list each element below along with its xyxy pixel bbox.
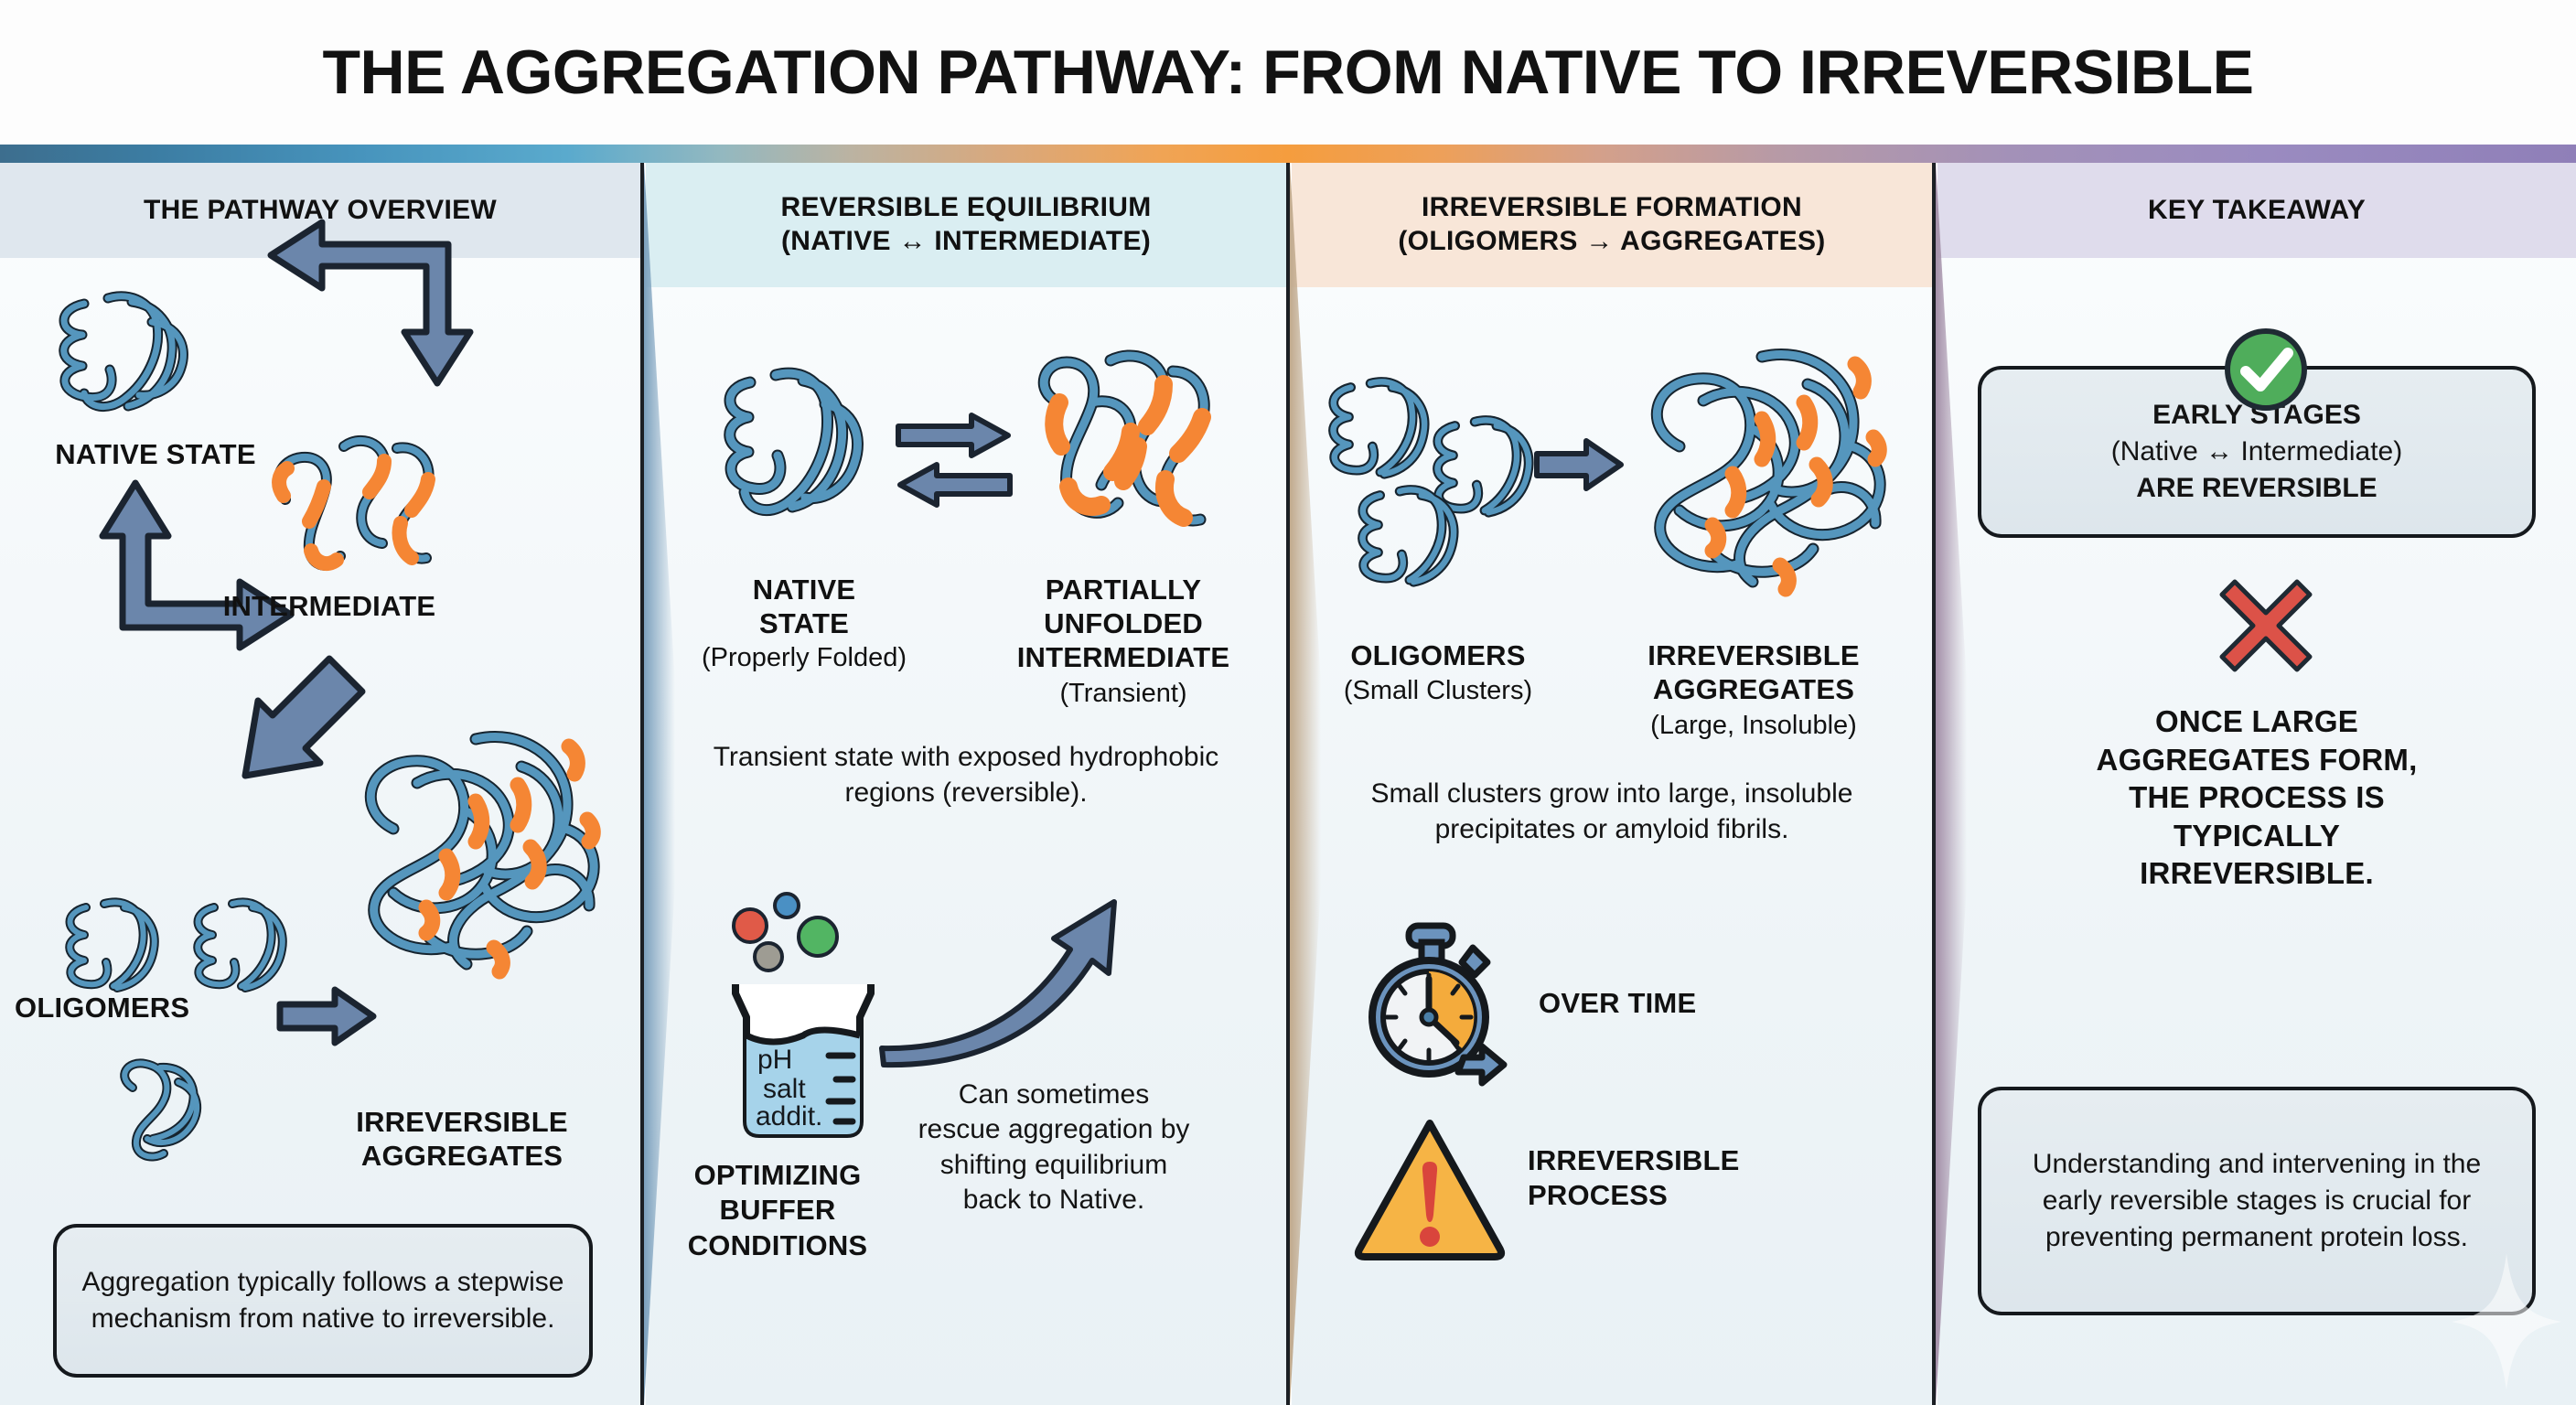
- column-divider-2: [1286, 163, 1292, 1405]
- irreversible-line-5: IRREVERSIBLE.: [1959, 854, 2554, 893]
- warning-triangle-icon: [1352, 1114, 1508, 1260]
- native-state-sublabel: (Properly Folded): [653, 642, 955, 674]
- oligomers-sublabel: (Small Clusters): [1292, 675, 1584, 707]
- aggregates-line-1: IRREVERSIBLE: [1584, 638, 1923, 672]
- irreversible-takeaway-text: ONCE LARGE AGGREGATES FORM, THE PROCESS …: [1959, 702, 2554, 893]
- column-divider-1: [640, 163, 646, 1405]
- header-line-2: (OLIGOMERS → AGGREGATES): [1398, 226, 1825, 256]
- irreversible-process-line-2: PROCESS: [1528, 1178, 1912, 1213]
- native-state-line-2: STATE: [653, 606, 955, 640]
- aggregates-line-2: AGGREGATES: [302, 1139, 622, 1173]
- buffer-beaker-icon: pH salt addit.: [715, 885, 898, 1142]
- aggregates-sublabel: (Large, Insoluble): [1584, 710, 1923, 742]
- aggregates-line-1: IRREVERSIBLE: [302, 1105, 622, 1139]
- equilibrium-arrows-icon: [895, 412, 1014, 509]
- over-time-label: OVER TIME: [1539, 986, 1813, 1020]
- irreversible-aggregates-label: IRREVERSIBLE AGGREGATES: [302, 1105, 622, 1173]
- oligomers-label: OLIGOMERS: [1292, 638, 1584, 672]
- infographic-poster: THE AGGREGATION PATHWAY: FROM NATIVE TO …: [0, 0, 2576, 1405]
- column-header-label: KEY TAKEAWAY: [2148, 194, 2366, 228]
- callout-text: Aggregation typically follows a stepwise…: [80, 1264, 565, 1337]
- column-header-irreversible-formation: IRREVERSIBLE FORMATION (OLIGOMERS → AGGR…: [1292, 163, 1932, 287]
- oligomers-label: OLIGOMERS: [0, 991, 274, 1024]
- rescue-description: Can sometimes rescue aggregation by shif…: [917, 1078, 1191, 1218]
- header-line-1: REVERSIBLE EQUILIBRIUM: [781, 192, 1152, 222]
- column-pathway-overview: THE PATHWAY OVERVIEW NATIVE STATE: [0, 163, 640, 1405]
- unfolded-line-3: INTERMEDIATE: [964, 640, 1283, 674]
- partially-unfolded-sublabel: (Transient): [964, 678, 1283, 710]
- pathway-overview-callout: Aggregation typically follows a stepwise…: [53, 1224, 593, 1378]
- column-header-label: REVERSIBLE EQUILIBRIUM (NATIVE ↔ INTERME…: [781, 191, 1152, 258]
- intermediate-label: INTERMEDIATE: [137, 589, 521, 623]
- irreversible-line-3: THE PROCESS IS: [1959, 778, 2554, 817]
- native-protein-icon: [44, 282, 209, 428]
- aggregates-line-2: AGGREGATES: [1584, 672, 1923, 706]
- beaker-salt-label: salt: [763, 1074, 806, 1104]
- column-key-takeaway: KEY TAKEAWAY EARLY STAGES (Native ↔ Inte…: [1937, 163, 2576, 1405]
- unfolded-line-2: UNFOLDED: [964, 606, 1283, 640]
- page-title: THE AGGREGATION PATHWAY: FROM NATIVE TO …: [322, 37, 2253, 108]
- irreversible-process-label: IRREVERSIBLE PROCESS: [1528, 1143, 1912, 1214]
- check-circle-icon: [2222, 326, 2310, 413]
- native-folded-protein-icon: [708, 357, 882, 531]
- irreversible-aggregate-icon: [1625, 337, 1899, 602]
- divider-line: [640, 163, 644, 1405]
- reversible-line-2: (Native ↔ Intermediate): [2111, 436, 2402, 467]
- partially-unfolded-protein-icon: [1023, 346, 1224, 547]
- reversible-description: Transient state with exposed hydrophobic…: [666, 739, 1266, 810]
- column-irreversible-formation: IRREVERSIBLE FORMATION (OLIGOMERS → AGGR…: [1292, 163, 1932, 1405]
- arrow-oligomers-to-aggregates-icon: [1533, 437, 1625, 492]
- irreversible-aggregate-icon: [338, 719, 613, 984]
- accent-gradient-strip: [0, 145, 2576, 163]
- column-divider-3: [1932, 163, 1937, 1405]
- oligomer-unit-icon: [1347, 481, 1475, 600]
- column-header-reversible-equilibrium: REVERSIBLE EQUILIBRIUM (NATIVE ↔ INTERME…: [646, 163, 1286, 287]
- intermediate-protein-icon: [263, 428, 446, 584]
- title-bar: THE AGGREGATION PATHWAY: FROM NATIVE TO …: [0, 0, 2576, 145]
- column-header-label: IRREVERSIBLE FORMATION (OLIGOMERS → AGGR…: [1398, 191, 1825, 258]
- native-state-line-1: NATIVE: [653, 573, 955, 606]
- final-callout-text: Understanding and intervening in the ear…: [2005, 1146, 2508, 1256]
- header-line-1: IRREVERSIBLE FORMATION: [1422, 192, 1802, 222]
- stopwatch-icon: [1348, 922, 1513, 1087]
- beaker-ph-label: pH: [757, 1045, 792, 1075]
- buffer-caption-line-1: OPTIMIZING: [659, 1158, 896, 1193]
- divider-line: [1286, 163, 1290, 1405]
- cross-x-icon: [2215, 574, 2317, 677]
- aggregates-label-block: IRREVERSIBLE AGGREGATES: [1584, 638, 1923, 706]
- divider-line: [1932, 163, 1936, 1405]
- buffer-caption-line-3: CONDITIONS: [659, 1228, 896, 1263]
- irreversible-line-4: TYPICALLY: [1959, 817, 2554, 855]
- irreversible-process-line-1: IRREVERSIBLE: [1528, 1143, 1912, 1178]
- elbow-arrow-native-to-intermediate-icon: [265, 213, 485, 424]
- column-reversible-equilibrium: REVERSIBLE EQUILIBRIUM (NATIVE ↔ INTERME…: [646, 163, 1286, 1405]
- final-takeaway-callout: Understanding and intervening in the ear…: [1978, 1087, 2536, 1315]
- oligomer-unit-icon: [105, 1055, 224, 1164]
- header-line-2: (NATIVE ↔ INTERMEDIATE): [781, 226, 1151, 256]
- unfolded-line-1: PARTIALLY: [964, 573, 1283, 606]
- oligomer-unit-icon: [55, 895, 174, 1004]
- irreversible-line-2: AGGREGATES FORM,: [1959, 741, 2554, 779]
- arrow-oligomers-to-aggregates-icon: [276, 986, 377, 1046]
- reversible-takeaway-text: EARLY STAGES (Native ↔ Intermediate) ARE…: [2111, 397, 2402, 507]
- rescue-curved-arrow-icon: [875, 885, 1140, 1068]
- beaker-addit-label: addit.: [756, 1101, 822, 1132]
- column-header-key-takeaway: KEY TAKEAWAY: [1937, 163, 2576, 258]
- native-state-block: NATIVE STATE: [653, 573, 955, 640]
- irreversible-description: Small clusters grow into large, insolubl…: [1306, 776, 1917, 847]
- reversible-line-3: ARE REVERSIBLE: [2136, 473, 2377, 503]
- irreversible-line-1: ONCE LARGE: [1959, 702, 2554, 741]
- buffer-caption-line-2: BUFFER: [659, 1193, 896, 1228]
- partially-unfolded-block: PARTIALLY UNFOLDED INTERMEDIATE: [964, 573, 1283, 675]
- optimizing-buffer-caption: OPTIMIZING BUFFER CONDITIONS: [659, 1158, 896, 1263]
